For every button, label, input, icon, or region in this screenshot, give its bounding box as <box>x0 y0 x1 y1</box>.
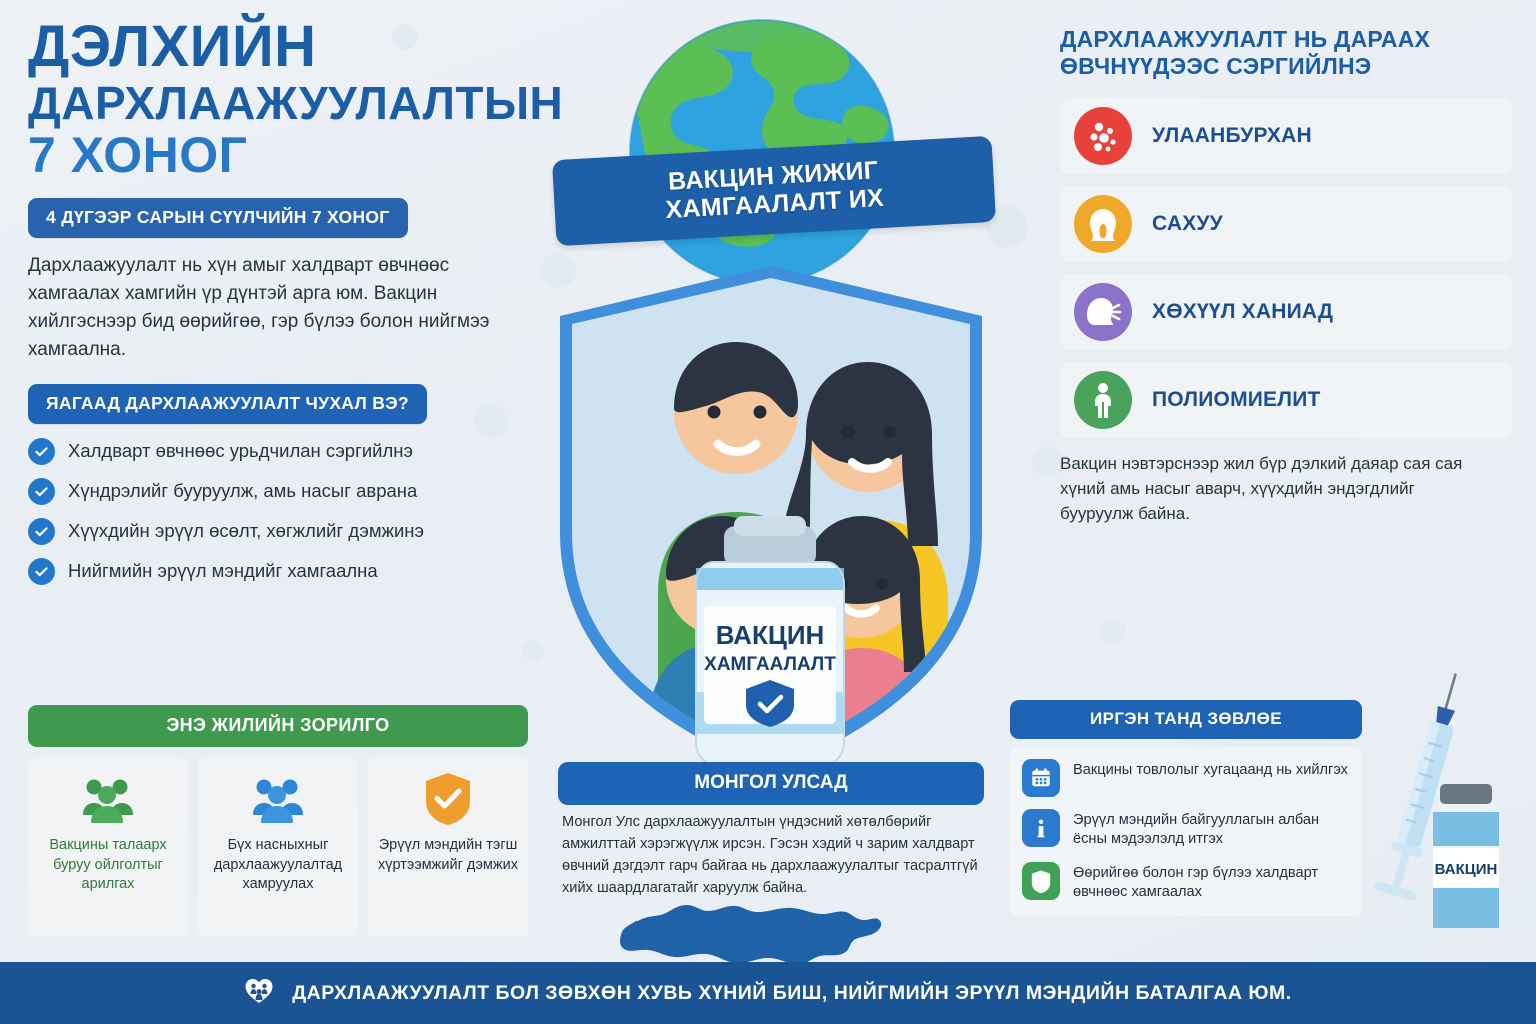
list-item: Өөрийгөө болон гэр бүлээ халдварт өвчнөө… <box>1022 862 1350 903</box>
mongolia-paragraph: Монгол Улс дархлаажуулалтын үндэсний хөт… <box>562 812 982 900</box>
small-vaccine-vial: ВАКЦИН <box>1433 784 1499 928</box>
disease-label: УЛААНБУРХАН <box>1152 124 1312 148</box>
list-item: Нийгмийн эрүүл мэндийг хамгаална <box>28 558 528 585</box>
goal-card: Бүх насныхныг дархлаажуулалтад хамруулах <box>198 757 358 937</box>
advice-label: Өөрийгөө болон гэр бүлээ халдварт өвчнөө… <box>1073 862 1350 903</box>
polio-person-icon <box>1074 371 1132 429</box>
virus-decoration-icon <box>1100 618 1126 644</box>
list-item: Халдварт өвчнөөс урьдчилан сэргийлнэ <box>28 438 528 465</box>
measles-spots-icon <box>1074 107 1132 165</box>
disease-label: ХӨХҮҮЛ ХАНИАД <box>1152 300 1333 324</box>
vial-label-line-1: ВАКЦИН <box>716 620 825 650</box>
group-people-blue-icon <box>206 771 350 827</box>
date-badge: 4 ДҮГЭЭР САРЫН СҮҮЛЧИЙН 7 ХОНОГ <box>28 198 408 238</box>
disease-label: ПОЛИОМИЕЛИТ <box>1152 388 1321 412</box>
group-people-green-icon <box>36 771 180 827</box>
diseases-paragraph: Вакцин нэвтэрснээр жил бүр дэлкий даяар … <box>1060 452 1490 526</box>
diseases-header: ДАРХЛААЖУУЛАЛТ НЬ ДАРААХ ӨВЧНҮҮДЭЭС СЭРГ… <box>1060 26 1512 80</box>
advice-header: ИРГЭН ТАНД ЗӨВЛӨЕ <box>1010 700 1362 739</box>
small-vial-label: ВАКЦИН <box>1435 861 1498 878</box>
footer-text: ДАРХЛААЖУУЛАЛТ БОЛ ЗӨВХӨН ХУВЬ ХҮНИЙ БИШ… <box>292 982 1291 1005</box>
mongolia-map-icon <box>620 893 920 963</box>
intro-paragraph: Дархлаажуулалт нь хүн амыг халдварт өвчн… <box>28 252 528 364</box>
check-circle-icon <box>28 518 55 545</box>
goal-label: Бүх насныхныг дархлаажуулалтад хамруулах <box>206 836 350 895</box>
shield-check-orange-icon <box>376 771 520 827</box>
list-item: Вакцины товлолыг хугацаанд нь хийлгэх <box>1022 759 1350 797</box>
title-line-3: 7 ХОНОГ <box>28 130 528 180</box>
why-badge: ЯАГААД ДАРХЛААЖУУЛАЛТ ЧУХАЛ ВЭ? <box>28 384 427 424</box>
goals-header: ЭНЭ ЖИЛИЙН ЗОРИЛГО <box>28 705 528 747</box>
list-item: УЛААНБУРХАН <box>1060 98 1512 174</box>
shield-icon <box>1022 862 1060 900</box>
goal-label: Эрүүл мэндийн тэгш хүртээмжийг дэмжих <box>376 836 520 875</box>
left-column: ДЭЛХИЙН ДАРХЛААЖУУЛАЛТЫН 7 ХОНОГ 4 ДҮГЭЭ… <box>28 18 528 598</box>
goal-label: Вакцины талаарх буруу ойлголтыг арилгах <box>36 836 180 895</box>
check-circle-icon <box>28 558 55 585</box>
goal-card: Вакцины талаарх буруу ойлголтыг арилгах <box>28 757 188 937</box>
goals-section: ЭНЭ ЖИЛИЙН ЗОРИЛГО Вакцины талаарх буруу… <box>28 705 528 937</box>
diseases-header-line-1: ДАРХЛААЖУУЛАЛТ НЬ ДАРААХ <box>1060 26 1512 53</box>
info-icon <box>1022 809 1060 847</box>
disease-label: САХУУ <box>1152 212 1223 236</box>
diseases-header-line-2: ӨВЧНҮҮДЭЭС СЭРГИЙЛНЭ <box>1060 53 1512 80</box>
why-item-label: Хүүхдийн эрүүл өсөлт, хөгжлийг дэмжинэ <box>68 520 424 542</box>
footer-bar: ДАРХЛААЖУУЛАЛТ БОЛ ЗӨВХӨН ХУВЬ ХҮНИЙ БИШ… <box>0 962 1536 1024</box>
infographic-canvas: ДЭЛХИЙН ДАРХЛААЖУУЛАЛТЫН 7 ХОНОГ 4 ДҮГЭЭ… <box>0 0 1536 1024</box>
list-item: Эрүүл мэндийн байгууллагын албан ёсны мэ… <box>1022 809 1350 850</box>
page-title: ДЭЛХИЙН ДАРХЛААЖУУЛАЛТЫН 7 ХОНОГ <box>28 18 528 180</box>
diseases-list: УЛААНБУРХАН САХУУ <box>1060 98 1512 438</box>
why-item-label: Нийгмийн эрүүл мэндийг хамгаална <box>68 560 378 582</box>
list-item: САХУУ <box>1060 186 1512 262</box>
calendar-icon <box>1022 759 1060 797</box>
advice-label: Эрүүл мэндийн байгууллагын албан ёсны мэ… <box>1073 809 1350 850</box>
list-item: Хүүхдийн эрүүл өсөлт, хөгжлийг дэмжинэ <box>28 518 528 545</box>
center-column: ВАКЦИН ЖИЖИГ ХАМГААЛАЛТ ИХ <box>536 0 1006 1024</box>
list-item: ХӨХҮҮЛ ХАНИАД <box>1060 274 1512 350</box>
right-column: ДАРХЛААЖУУЛАЛТ НЬ ДАРААХ ӨВЧНҮҮДЭЭС СЭРГ… <box>1060 26 1512 527</box>
heart-family-icon <box>244 977 274 1010</box>
check-circle-icon <box>28 438 55 465</box>
advice-body: Вакцины товлолыг хугацаанд нь хийлгэх Эр… <box>1010 747 1362 916</box>
why-list: Халдварт өвчнөөс урьдчилан сэргийлнэ Хүн… <box>28 438 528 585</box>
why-item-label: Халдварт өвчнөөс урьдчилан сэргийлнэ <box>68 440 413 462</box>
title-line-1: ДЭЛХИЙН <box>28 18 528 76</box>
list-item: ПОЛИОМИЕЛИТ <box>1060 362 1512 438</box>
advice-section: ИРГЭН ТАНД ЗӨВЛӨЕ Вакцины товлолыг хугац… <box>1010 700 1362 916</box>
diphtheria-throat-icon <box>1074 195 1132 253</box>
mongolia-badge: МОНГОЛ УЛСАД <box>558 762 984 805</box>
goals-grid: Вакцины талаарх буруу ойлголтыг арилгах … <box>28 757 528 937</box>
vial-label-line-2: ХАМГААЛАЛТ <box>704 654 836 675</box>
list-item: Хүндрэлийг бууруулж, амь насыг аврана <box>28 478 528 505</box>
check-circle-icon <box>28 478 55 505</box>
pertussis-cough-icon <box>1074 283 1132 341</box>
family-shield-illustration: ВАКЦИН ХАМГААЛАЛТ <box>538 262 1004 772</box>
goal-card: Эрүүл мэндийн тэгш хүртээмжийг дэмжих <box>368 757 528 937</box>
syringe-vial-illustration: ВАКЦИН <box>1368 672 1528 954</box>
advice-label: Вакцины товлолыг хугацаанд нь хийлгэх <box>1073 759 1348 780</box>
why-item-label: Хүндрэлийг бууруулж, амь насыг аврана <box>68 480 417 502</box>
title-line-2: ДАРХЛААЖУУЛАЛТЫН <box>28 80 528 126</box>
